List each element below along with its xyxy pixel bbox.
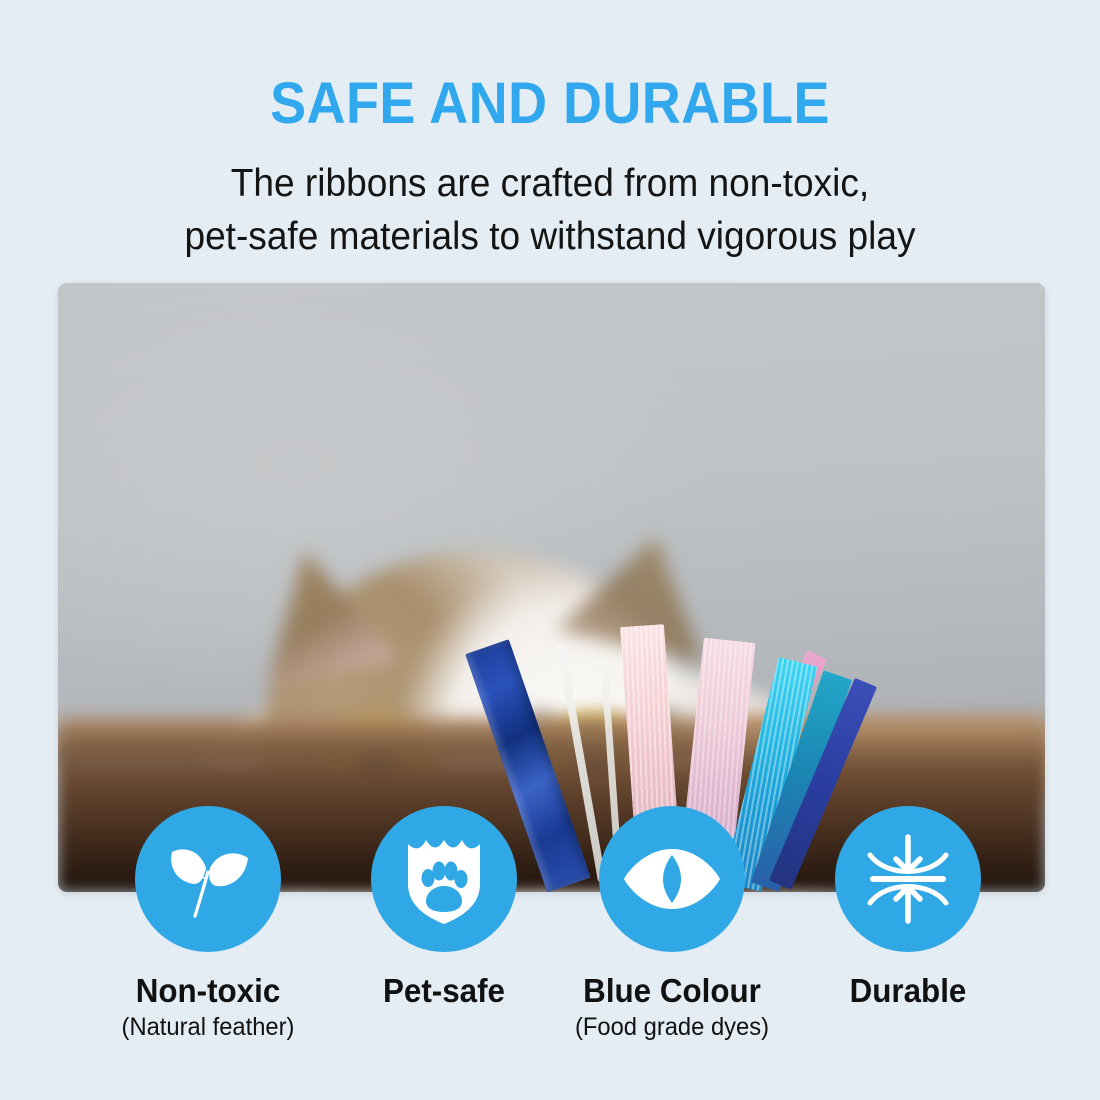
leaves-icon [162,838,254,920]
feature-title: Durable [804,972,1013,1010]
feature-label-row: Non-toxic (Natural feather) Pet-safe Blu… [0,972,1100,1052]
subtitle-line-2: pet-safe materials to withstand vigorous… [28,211,1073,264]
feature-badge-pet-safe[interactable] [371,806,517,952]
feature-label-pet-safe: Pet-safe [334,972,554,1012]
feature-badge-blue-colour[interactable] [599,806,745,952]
feature-label-blue-colour: Blue Colour (Food grade dyes) [552,972,792,1042]
feature-badge-row [0,806,1100,956]
feature-title: Blue Colour [558,972,786,1010]
promo-page: SAFE AND DURABLE The ribbons are crafted… [0,0,1100,1100]
feature-subtitle: (Food grade dyes) [558,1012,786,1042]
feature-title: Non-toxic [94,972,322,1010]
subtitle-line-1: The ribbons are crafted from non-toxic, [28,158,1073,211]
shield-paw-icon [402,832,486,926]
feature-subtitle: (Natural feather) [94,1012,322,1042]
feature-badge-non-toxic[interactable] [135,806,281,952]
product-photo [58,283,1045,892]
feature-label-non-toxic: Non-toxic (Natural feather) [88,972,328,1042]
feature-title: Pet-safe [340,972,549,1010]
feature-badge-durable[interactable] [835,806,981,952]
page-subtitle: The ribbons are crafted from non-toxic, … [28,158,1073,263]
page-title: SAFE AND DURABLE [39,74,1062,135]
compression-durable-icon [862,833,954,925]
cat-eye-icon [622,843,722,915]
feature-label-durable: Durable [798,972,1018,1012]
